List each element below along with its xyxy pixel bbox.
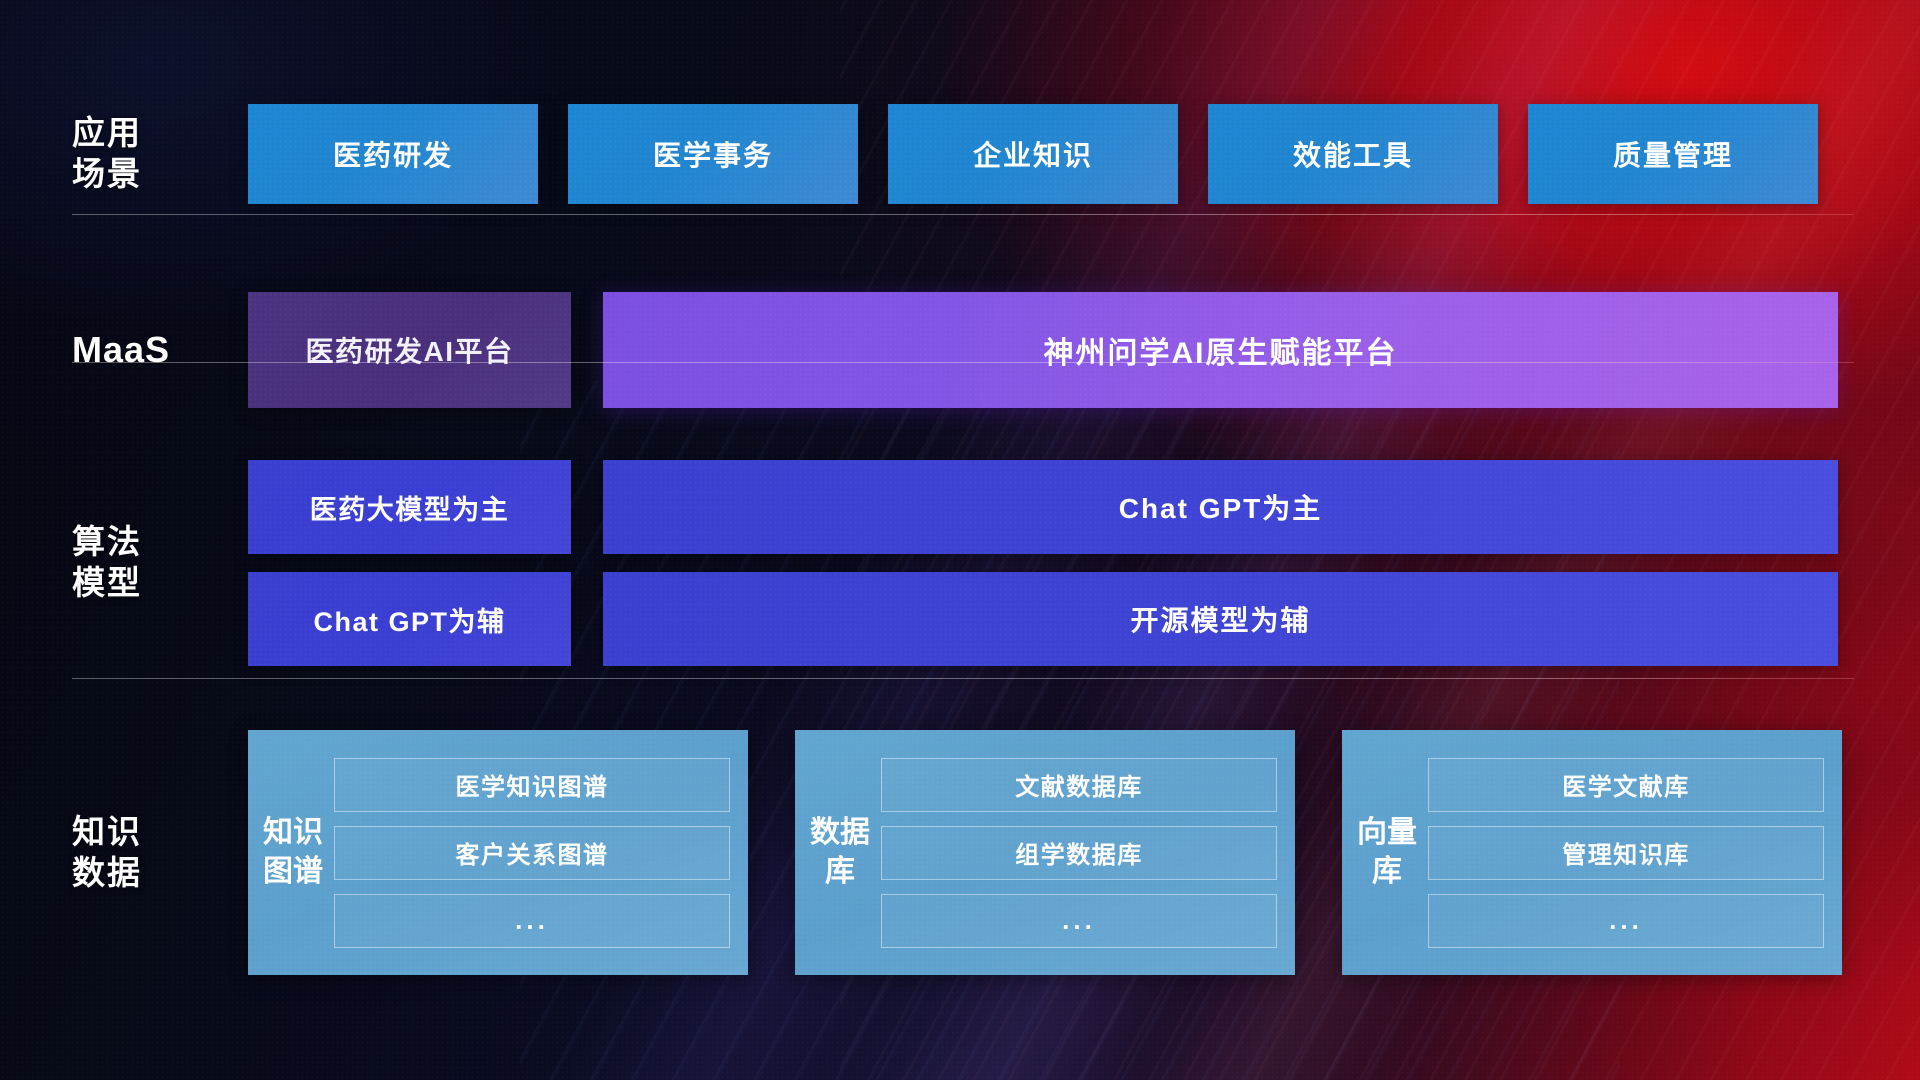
row-label-maas: MaaS [0, 328, 200, 373]
maas-box-shenzhou-wenxue-platform[interactable]: 神州问学AI原生赋能平台 [603, 292, 1838, 408]
algo-box-pharma-large-model-primary[interactable]: 医药大模型为主 [248, 460, 571, 554]
application-scenario-track: 医药研发 医学事务 企业知识 效能工具 质量管理 [200, 104, 1818, 204]
knowledge-group-knowledge-graph: 知识图谱 医学知识图谱 客户关系图谱 ... [248, 730, 748, 975]
architecture-diagram-canvas: 应用 场景 医药研发 医学事务 企业知识 效能工具 质量管理 MaaS 医药研发… [0, 0, 1920, 1080]
knowledge-item-list-database: 文献数据库 组学数据库 ... [881, 758, 1277, 948]
divider-after-applications [72, 214, 1854, 215]
algo-box-open-source-secondary[interactable]: 开源模型为辅 [603, 572, 1838, 666]
knowledge-item-more-database[interactable]: ... [881, 894, 1277, 948]
row-body-application-scenarios: 医药研发 医学事务 企业知识 效能工具 质量管理 [200, 104, 1920, 204]
knowledge-item-list-vector-store: 医学文献库 管理知识库 ... [1428, 758, 1824, 948]
app-box-enterprise-knowledge[interactable]: 企业知识 [888, 104, 1178, 204]
algorithm-line-primary: 医药大模型为主 Chat GPT为主 [248, 460, 1838, 554]
row-label-application-scenarios: 应用 场景 [0, 113, 200, 195]
algo-box-chatgpt-primary[interactable]: Chat GPT为主 [603, 460, 1838, 554]
knowledge-item-omics-database[interactable]: 组学数据库 [881, 826, 1277, 880]
app-box-pharma-rd[interactable]: 医药研发 [248, 104, 538, 204]
knowledge-item-customer-relation-graph[interactable]: 客户关系图谱 [334, 826, 730, 880]
knowledge-group-title-vector-store: 向量库 [1356, 814, 1418, 891]
divider-after-algorithm-models [72, 678, 1854, 679]
knowledge-item-more-knowledge-graph[interactable]: ... [334, 894, 730, 948]
layered-architecture: 应用 场景 医药研发 医学事务 企业知识 效能工具 质量管理 MaaS 医药研发… [0, 0, 1920, 1080]
row-application-scenarios: 应用 场景 医药研发 医学事务 企业知识 效能工具 质量管理 [0, 104, 1920, 204]
row-knowledge-data: 知识 数据 知识图谱 医学知识图谱 客户关系图谱 ... 数据库 [0, 730, 1920, 975]
knowledge-group-database: 数据库 文献数据库 组学数据库 ... [795, 730, 1295, 975]
knowledge-item-management-knowledge-store[interactable]: 管理知识库 [1428, 826, 1824, 880]
knowledge-item-more-vector-store[interactable]: ... [1428, 894, 1824, 948]
row-body-knowledge-data: 知识图谱 医学知识图谱 客户关系图谱 ... 数据库 文献数据库 组学数据库 .… [200, 730, 1920, 975]
knowledge-group-vector-store: 向量库 医学文献库 管理知识库 ... [1342, 730, 1842, 975]
maas-box-pharma-ai-platform[interactable]: 医药研发AI平台 [248, 292, 571, 408]
maas-track: 医药研发AI平台 神州问学AI原生赋能平台 [200, 292, 1838, 408]
row-label-knowledge-data: 知识 数据 [0, 812, 200, 894]
row-maas: MaaS 医药研发AI平台 神州问学AI原生赋能平台 [0, 292, 1920, 408]
knowledge-group-title-knowledge-graph: 知识图谱 [262, 814, 324, 891]
app-box-medical-affairs[interactable]: 医学事务 [568, 104, 858, 204]
app-box-efficiency-tools[interactable]: 效能工具 [1208, 104, 1498, 204]
row-body-algorithm-models: 医药大模型为主 Chat GPT为主 Chat GPT为辅 开源模型为辅 [200, 460, 1920, 666]
knowledge-group-title-database: 数据库 [809, 814, 871, 891]
knowledge-group-track: 知识图谱 医学知识图谱 客户关系图谱 ... 数据库 文献数据库 组学数据库 .… [200, 730, 1842, 975]
divider-after-maas [72, 362, 1854, 363]
row-algorithm-models: 算法 模型 医药大模型为主 Chat GPT为主 Chat GPT为辅 开源模型… [0, 460, 1920, 666]
knowledge-item-list-knowledge-graph: 医学知识图谱 客户关系图谱 ... [334, 758, 730, 948]
algorithm-model-stack: 医药大模型为主 Chat GPT为主 Chat GPT为辅 开源模型为辅 [200, 460, 1838, 666]
algo-box-chatgpt-secondary[interactable]: Chat GPT为辅 [248, 572, 571, 666]
algorithm-line-secondary: Chat GPT为辅 开源模型为辅 [248, 572, 1838, 666]
knowledge-item-medical-literature-store[interactable]: 医学文献库 [1428, 758, 1824, 812]
app-box-quality-management[interactable]: 质量管理 [1528, 104, 1818, 204]
knowledge-item-medical-knowledge-graph[interactable]: 医学知识图谱 [334, 758, 730, 812]
row-label-algorithm-models: 算法 模型 [0, 522, 200, 604]
row-body-maas: 医药研发AI平台 神州问学AI原生赋能平台 [200, 292, 1920, 408]
knowledge-item-literature-database[interactable]: 文献数据库 [881, 758, 1277, 812]
